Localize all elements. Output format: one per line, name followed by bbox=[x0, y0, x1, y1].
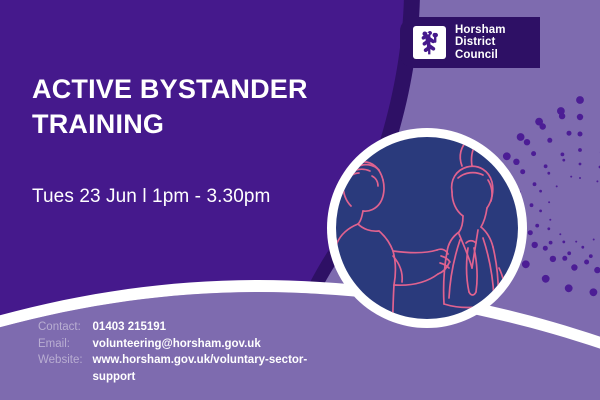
contact-row-phone: Contact: 01403 215191 bbox=[38, 319, 313, 336]
contact-value-phone: 01403 215191 bbox=[93, 319, 313, 336]
contact-details: Contact: 01403 215191 Email: volunteerin… bbox=[38, 319, 313, 385]
contact-value-website[interactable]: www.horsham.gov.uk/voluntary-sector-supp… bbox=[93, 352, 313, 385]
logo-wordmark: Horsham District Council bbox=[455, 24, 506, 61]
contact-row-website: Website: www.horsham.gov.uk/voluntary-se… bbox=[38, 352, 313, 385]
logo-line-3: Council bbox=[455, 49, 506, 61]
logo-line-1: Horsham bbox=[455, 24, 506, 36]
poster-canvas: Horsham District Council ACTIVE BYSTANDE… bbox=[0, 0, 600, 400]
contact-label-phone: Contact: bbox=[38, 319, 93, 336]
logo-line-2: District bbox=[455, 36, 506, 48]
event-datetime: Tues 23 Jun l 1pm - 3.30pm bbox=[32, 185, 352, 209]
contact-label-website: Website: bbox=[38, 352, 93, 385]
contact-row-email: Email: volunteering@horsham.gov.uk bbox=[38, 336, 313, 353]
contact-label-email: Email: bbox=[38, 336, 93, 353]
page-title: ACTIVE BYSTANDER TRAINING bbox=[32, 72, 332, 142]
heraldic-lion-rampant-icon bbox=[413, 26, 446, 59]
contact-value-email[interactable]: volunteering@horsham.gov.uk bbox=[93, 336, 313, 353]
horsham-district-council-logo: Horsham District Council bbox=[400, 17, 540, 68]
